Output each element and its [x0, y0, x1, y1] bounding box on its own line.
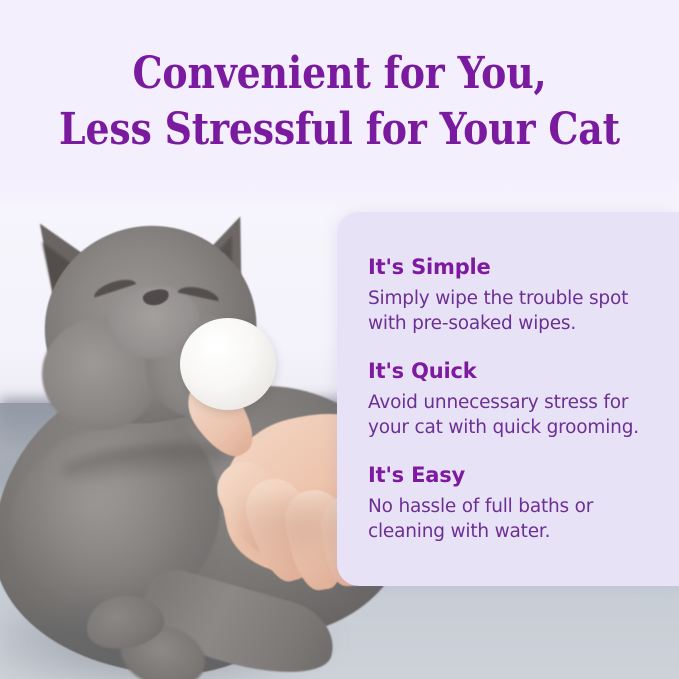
- headline-line-1: Convenient for You,: [48, 46, 632, 102]
- benefit-title-simple: It's Simple: [368, 254, 663, 281]
- photo-top-fade: [0, 178, 679, 212]
- cotton-pad-highlight: [196, 330, 240, 364]
- benefit-title-easy: It's Easy: [368, 462, 663, 489]
- headline-line-2: Less Stressful for Your Cat: [48, 102, 632, 158]
- page-title: Convenient for You, Less Stressful for Y…: [48, 46, 632, 158]
- benefit-body-simple-line-2: with pre-soaked wipes.: [368, 311, 663, 336]
- benefit-body-easy: No hassle of full baths or cleaning with…: [368, 494, 663, 544]
- benefit-title-quick: It's Quick: [368, 358, 663, 385]
- benefit-body-quick-line-1: Avoid unnecessary stress for: [368, 390, 663, 415]
- benefit-body-simple-line-1: Simply wipe the trouble spot: [368, 286, 663, 311]
- product-feature-graphic: Convenient for You, Less Stressful for Y…: [0, 0, 679, 679]
- benefit-body-quick-line-2: your cat with quick grooming.: [368, 415, 663, 440]
- benefits-list: It's Simple Simply wipe the trouble spot…: [368, 254, 663, 544]
- benefit-body-easy-line-2: cleaning with water.: [368, 519, 663, 544]
- benefit-item-quick: It's Quick Avoid unnecessary stress for …: [368, 358, 663, 440]
- benefit-item-easy: It's Easy No hassle of full baths or cle…: [368, 462, 663, 544]
- benefit-item-simple: It's Simple Simply wipe the trouble spot…: [368, 254, 663, 336]
- benefit-body-quick: Avoid unnecessary stress for your cat wi…: [368, 390, 663, 440]
- benefit-body-simple: Simply wipe the trouble spot with pre-so…: [368, 286, 663, 336]
- benefits-card: It's Simple Simply wipe the trouble spot…: [337, 212, 679, 586]
- benefit-body-easy-line-1: No hassle of full baths or: [368, 494, 663, 519]
